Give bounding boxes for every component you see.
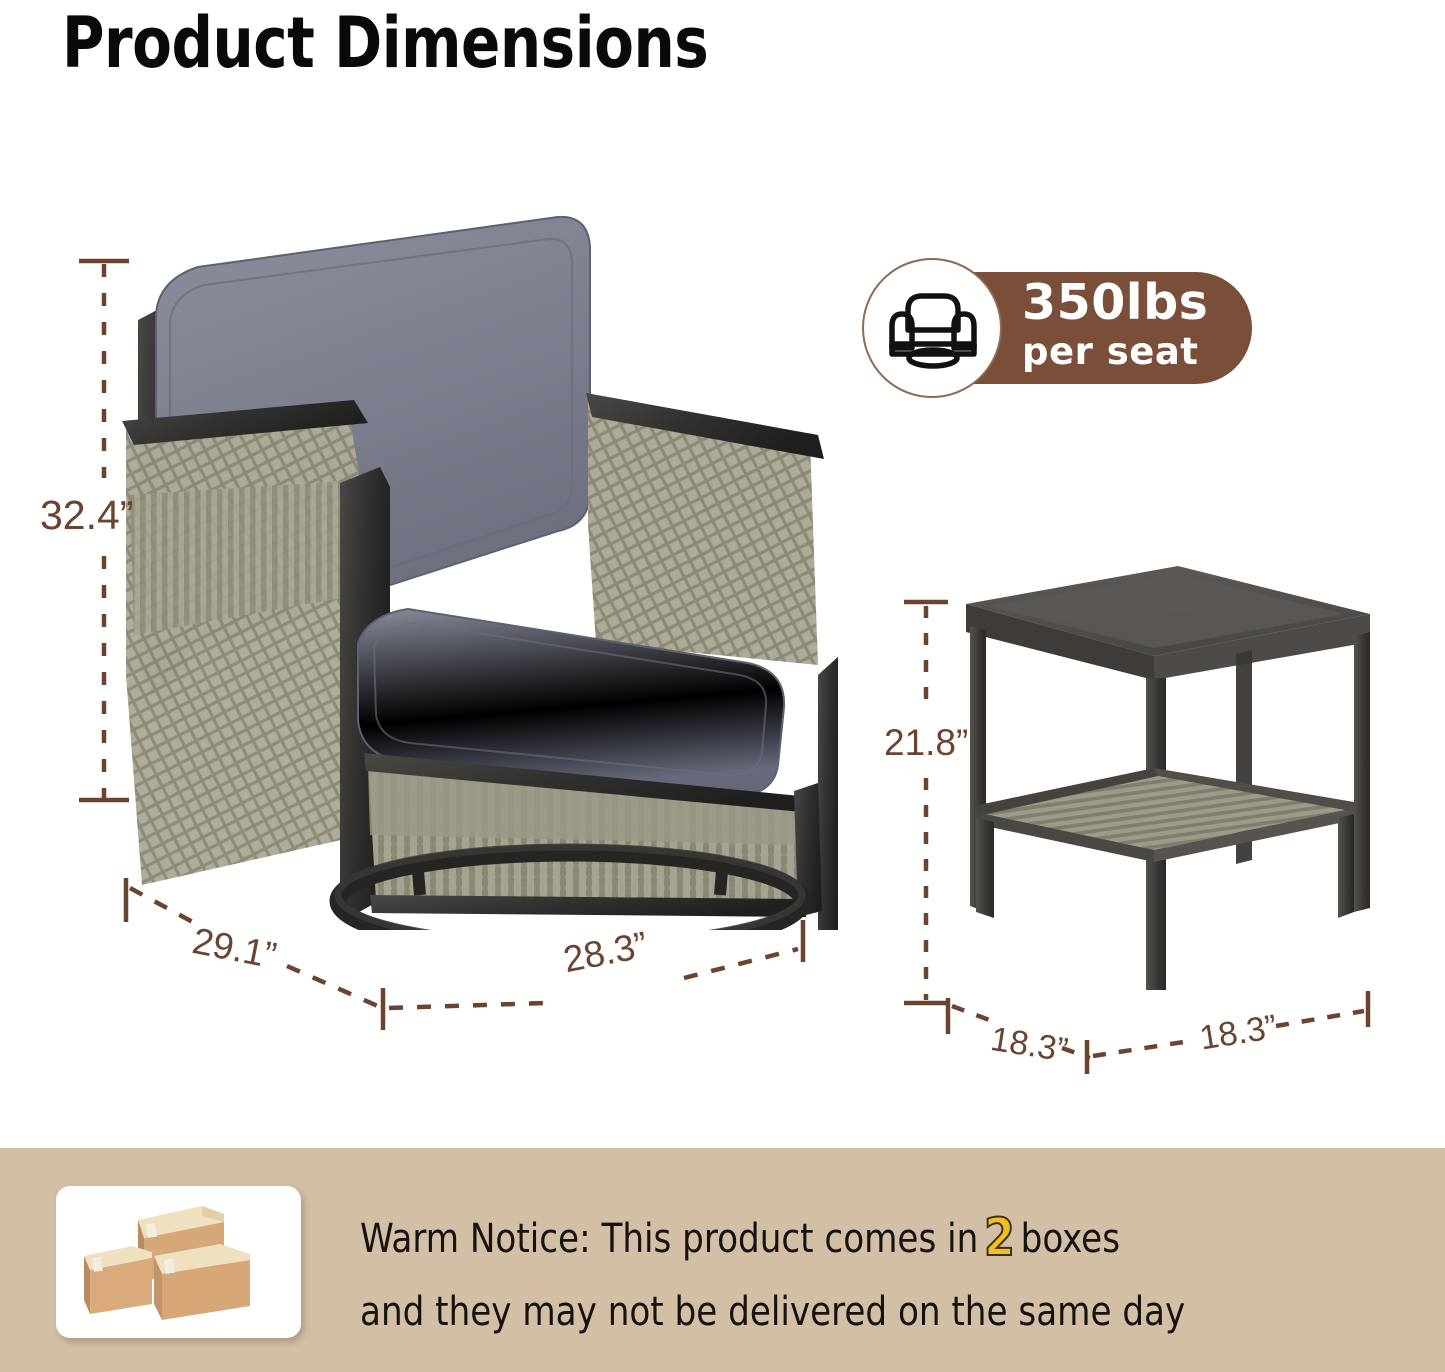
dimension-chair-width: 28.3” bbox=[560, 924, 651, 981]
product-dimensions-infographic: Product Dimensions bbox=[0, 0, 1445, 1372]
notice-text: Warm Notice: This product comes in2boxes… bbox=[360, 1196, 1367, 1345]
notice-line-2: and they may not be delivered on the sam… bbox=[360, 1280, 1367, 1345]
notice-line-1-before: Warm Notice: This product comes in bbox=[360, 1216, 978, 1262]
badge-text: 350lbs per seat bbox=[1022, 278, 1252, 370]
dimension-chair-height: 32.4” bbox=[40, 492, 133, 539]
cardboard-boxes-icon bbox=[74, 1194, 284, 1330]
notice-icon-card bbox=[56, 1186, 301, 1338]
page-title: Product Dimensions bbox=[62, 2, 708, 84]
notice-line-1-after: boxes bbox=[1021, 1216, 1120, 1262]
side-table-illustration bbox=[940, 560, 1390, 1015]
notice-box-count: 2 bbox=[978, 1208, 1020, 1268]
dimension-table-depth: 18.3” bbox=[988, 1020, 1071, 1071]
weight-capacity-badge: 350lbs per seat bbox=[862, 258, 1252, 398]
armchair-icon bbox=[886, 284, 978, 372]
badge-per-seat-label: per seat bbox=[1022, 333, 1252, 370]
swivel-chair-illustration bbox=[118, 195, 838, 930]
dimension-table-width: 18.3” bbox=[1197, 1008, 1280, 1059]
dimension-table-height: 21.8” bbox=[884, 722, 968, 764]
warm-notice-bar: Warm Notice: This product comes in2boxes… bbox=[0, 1148, 1445, 1372]
badge-weight-value: 350lbs bbox=[1022, 278, 1252, 327]
notice-line-1: Warm Notice: This product comes in2boxes bbox=[360, 1196, 1367, 1280]
